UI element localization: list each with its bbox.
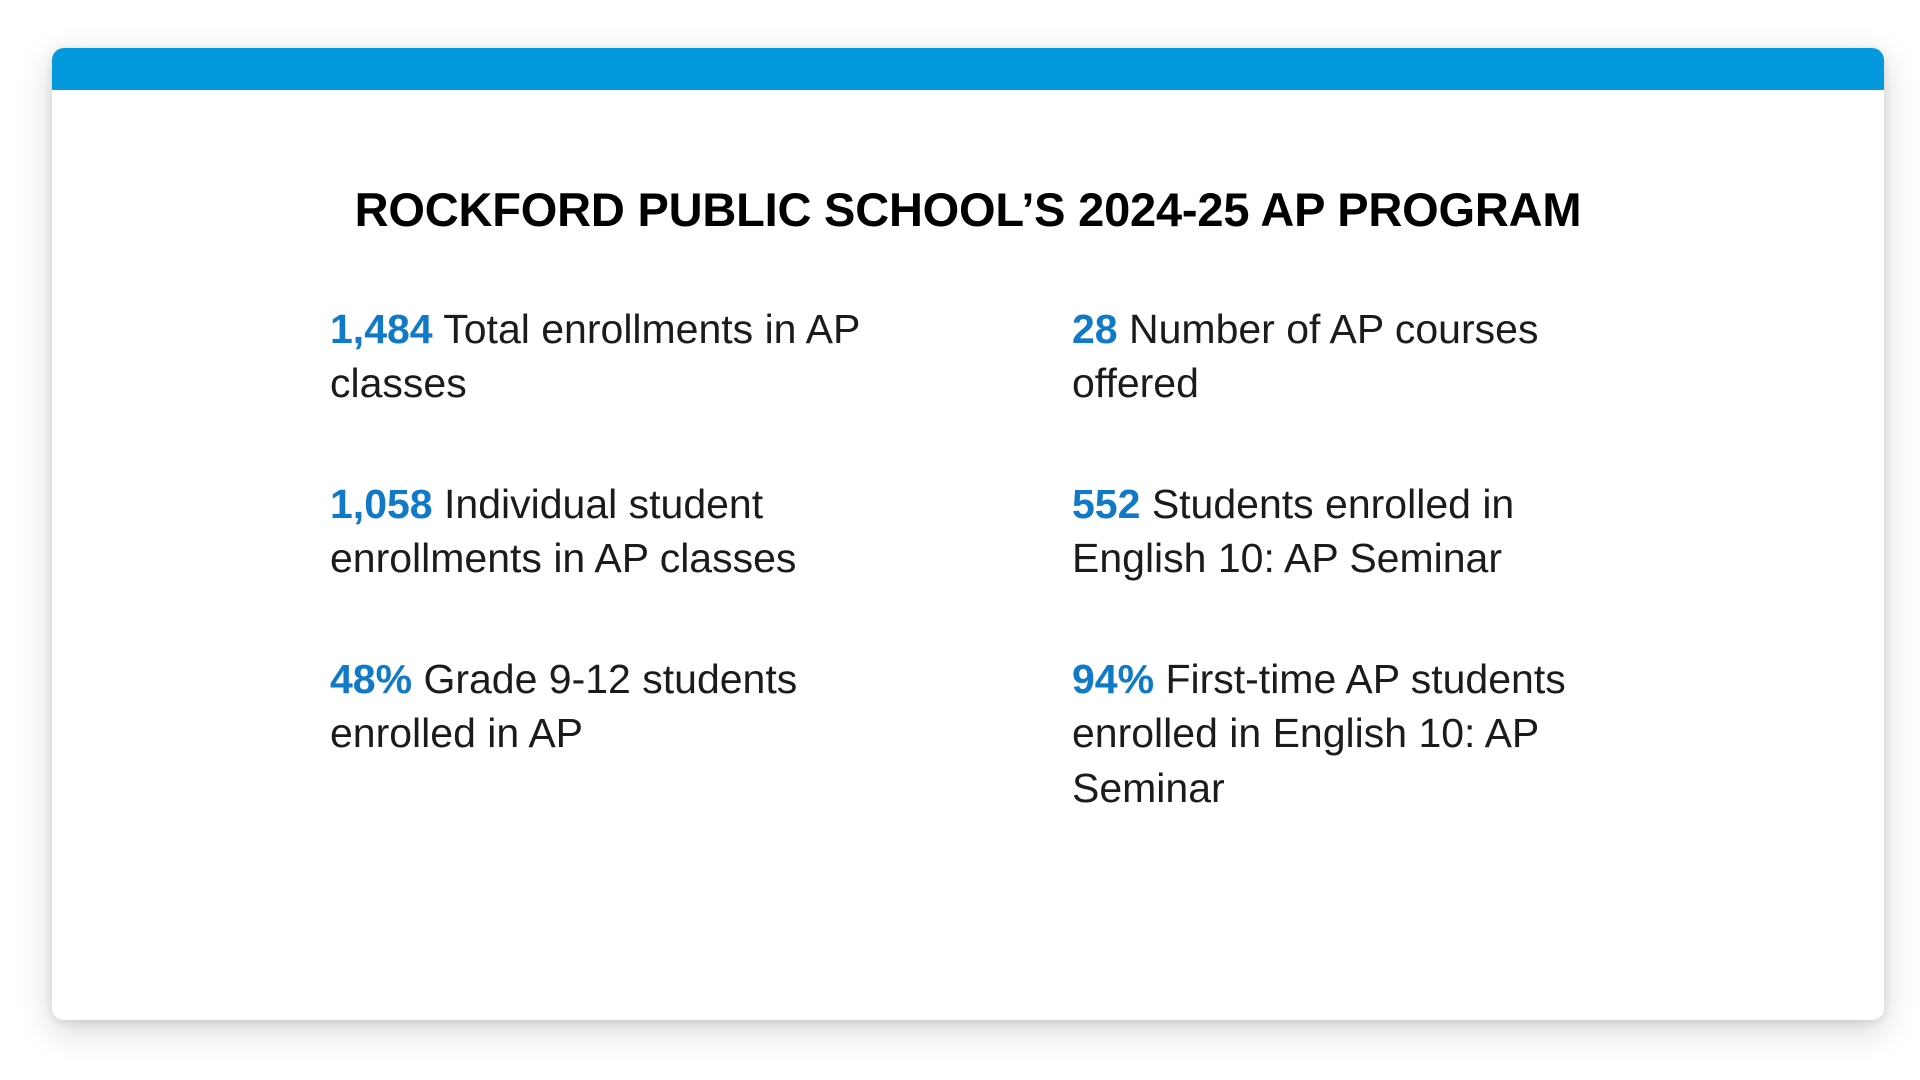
stat-first-time-ap-students-percent: 94% First-time AP students enrolled in E… bbox=[1072, 652, 1652, 816]
stat-value: 28 bbox=[1072, 306, 1118, 352]
card-accent-bar bbox=[52, 48, 1884, 90]
stat-value: 48% bbox=[330, 656, 412, 702]
stat-value: 552 bbox=[1072, 481, 1140, 527]
page-canvas: ROCKFORD PUBLIC SCHOOL’S 2024-25 AP PROG… bbox=[0, 0, 1920, 1080]
card-body: ROCKFORD PUBLIC SCHOOL’S 2024-25 AP PROG… bbox=[52, 90, 1884, 1020]
stat-total-enrollments: 1,484 Total enrollments in AP classes bbox=[330, 302, 910, 411]
stat-number-of-ap-courses: 28 Number of AP courses offered bbox=[1072, 302, 1652, 411]
stats-grid: 1,484 Total enrollments in AP classes 1,… bbox=[272, 302, 1664, 816]
stat-label: Number of AP courses offered bbox=[1072, 306, 1538, 407]
stat-individual-student-enrollments: 1,058 Individual student enrollments in … bbox=[330, 477, 910, 586]
stat-english-10-ap-seminar-enrolled: 552 Students enrolled in English 10: AP … bbox=[1072, 477, 1652, 586]
ap-program-infographic-card: ROCKFORD PUBLIC SCHOOL’S 2024-25 AP PROG… bbox=[52, 48, 1884, 1020]
stat-value: 94% bbox=[1072, 656, 1154, 702]
stat-value: 1,058 bbox=[330, 481, 433, 527]
stats-column-right: 28 Number of AP courses offered 552 Stud… bbox=[1072, 302, 1664, 816]
stat-grade-9-12-enrolled-percent: 48% Grade 9-12 students enrolled in AP bbox=[330, 652, 910, 761]
page-title: ROCKFORD PUBLIC SCHOOL’S 2024-25 AP PROG… bbox=[272, 90, 1664, 236]
stat-value: 1,484 bbox=[330, 306, 433, 352]
stats-column-left: 1,484 Total enrollments in AP classes 1,… bbox=[330, 302, 922, 816]
